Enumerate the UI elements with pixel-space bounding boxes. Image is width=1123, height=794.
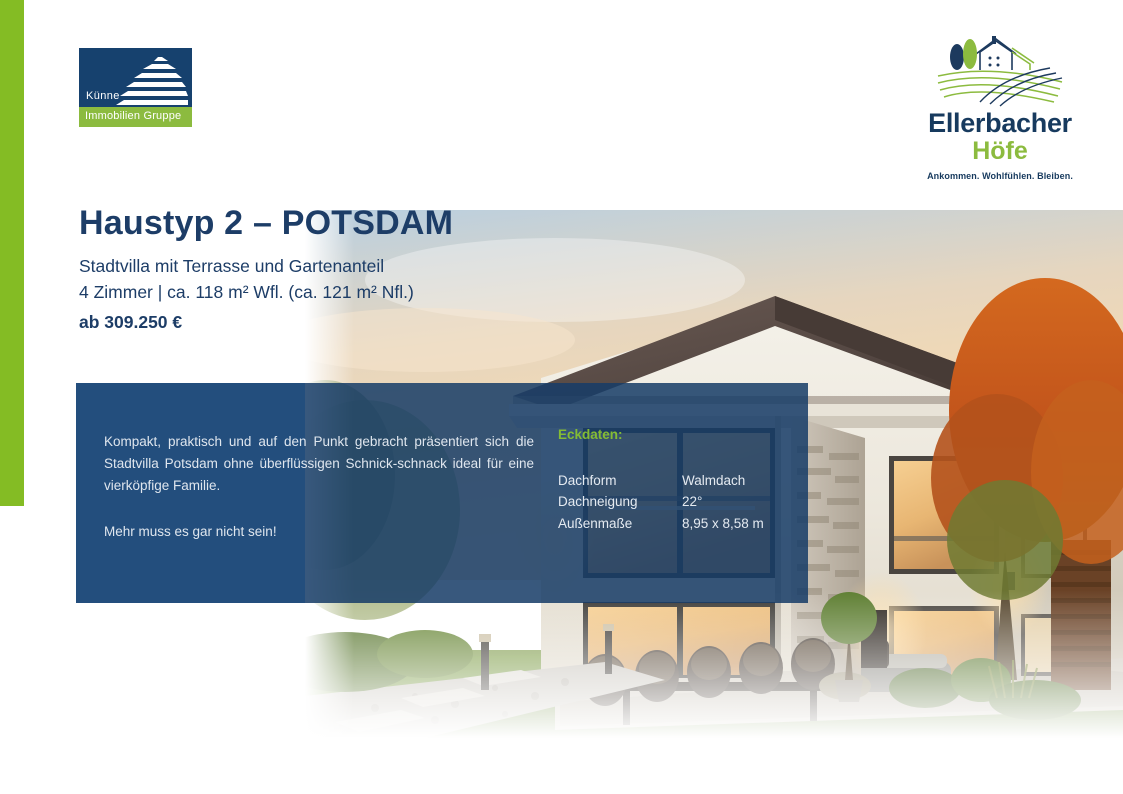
subtitle-line-1: Stadtvilla mit Terrasse und Gartenanteil: [79, 254, 509, 279]
price-label: ab 309.250 €: [79, 312, 509, 333]
brochure-page: Künne Immobilien Gruppe: [0, 0, 1123, 794]
eckdaten-value: 22°: [682, 491, 764, 512]
ellerbacher-hoefe-logo[interactable]: Ellerbacher Höfe Ankommen. Wohlfühlen. B…: [920, 36, 1080, 181]
building-logo-icon: [110, 55, 192, 107]
headline-block: Haustyp 2 – POTSDAM Stadtvilla mit Terra…: [79, 205, 509, 333]
left-green-accent-bar: [0, 0, 24, 506]
eckdaten-value: 8,95 x 8,58 m: [682, 513, 764, 534]
eckdaten-table: Dachform Walmdach Dachneigung 22° Außenm…: [558, 470, 764, 534]
eckdaten-key: Dachform: [558, 470, 682, 491]
kuenne-immobilien-logo[interactable]: Künne Immobilien Gruppe: [79, 48, 192, 127]
house-fields-logo-icon: [920, 36, 1080, 108]
info-panel-content: Kompakt, praktisch und auf den Punkt geb…: [76, 383, 808, 603]
page-title: Haustyp 2 – POTSDAM: [79, 205, 509, 242]
ellerbacher-logo-subtitle: Höfe: [920, 138, 1080, 164]
kuenne-logo-green-block: Immobilien Gruppe: [79, 107, 192, 127]
subtitle-line-2: 4 Zimmer | ca. 118 m² Wfl. (ca. 121 m² N…: [79, 280, 509, 305]
eckdaten-heading: Eckdaten:: [558, 427, 808, 442]
eckdaten-key: Dachneigung: [558, 491, 682, 512]
kuenne-logo-subtitle: Immobilien Gruppe: [85, 110, 181, 122]
description-text: Kompakt, praktisch und auf den Punkt geb…: [104, 431, 534, 497]
ellerbacher-logo-artwork: [920, 36, 1080, 108]
eckdaten-column: Eckdaten: Dachform Walmdach Dachneigung …: [546, 383, 808, 603]
ellerbacher-logo-name: Ellerbacher: [920, 110, 1080, 137]
eckdaten-key: Außenmaße: [558, 513, 682, 534]
info-panel-description-column: Kompakt, praktisch und auf den Punkt geb…: [76, 383, 546, 603]
ellerbacher-logo-tagline: Ankommen. Wohlfühlen. Bleiben.: [920, 171, 1080, 181]
kuenne-logo-navy-block: Künne: [79, 48, 192, 107]
eckdaten-value: Walmdach: [682, 470, 764, 491]
closing-text: Mehr muss es gar nicht sein!: [104, 521, 546, 543]
table-row: Dachneigung 22°: [558, 491, 764, 512]
info-panel: Kompakt, praktisch und auf den Punkt geb…: [76, 383, 808, 603]
kuenne-logo-wordmark: Künne: [86, 90, 120, 102]
table-row: Dachform Walmdach: [558, 470, 764, 491]
table-row: Außenmaße 8,95 x 8,58 m: [558, 513, 764, 534]
